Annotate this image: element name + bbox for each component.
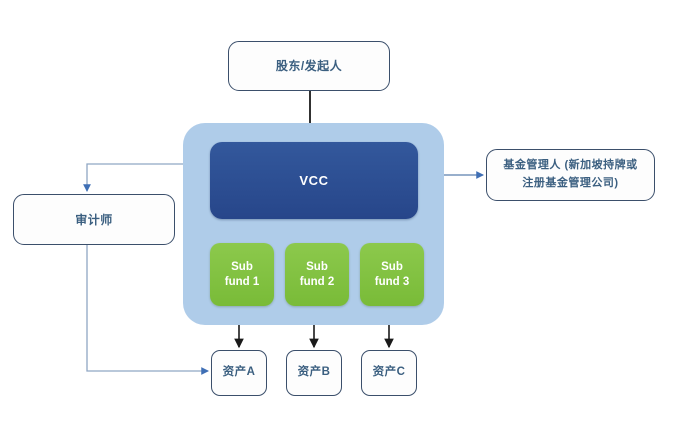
node-asset-b[interactable]: 资产B bbox=[286, 350, 342, 396]
node-shareholder-label: 股东/发起人 bbox=[276, 57, 342, 75]
node-sub-fund-3[interactable]: Sub fund 3 bbox=[360, 243, 424, 306]
node-asset-a-label: 资产A bbox=[223, 364, 256, 381]
node-vcc-label: VCC bbox=[299, 173, 328, 188]
diagram-canvas: 股东/发起人 VCC 审计师 基金管理人 (新加坡持牌或 注册基金管理公司) S… bbox=[0, 0, 688, 437]
node-fund-manager-label: 基金管理人 (新加坡持牌或 注册基金管理公司) bbox=[503, 157, 637, 192]
node-fund-manager[interactable]: 基金管理人 (新加坡持牌或 注册基金管理公司) bbox=[486, 149, 655, 201]
node-asset-b-label: 资产B bbox=[298, 364, 331, 381]
node-shareholder[interactable]: 股东/发起人 bbox=[228, 41, 390, 91]
node-sub-fund-1-label: Sub fund 1 bbox=[225, 260, 260, 289]
node-sub-fund-1[interactable]: Sub fund 1 bbox=[210, 243, 274, 306]
node-auditor-label: 审计师 bbox=[75, 211, 113, 229]
node-asset-c-label: 资产C bbox=[373, 364, 406, 381]
node-vcc[interactable]: VCC bbox=[210, 142, 418, 219]
node-sub-fund-3-label: Sub fund 3 bbox=[375, 260, 410, 289]
node-auditor[interactable]: 审计师 bbox=[13, 194, 175, 245]
node-asset-c[interactable]: 资产C bbox=[361, 350, 417, 396]
node-asset-a[interactable]: 资产A bbox=[211, 350, 267, 396]
node-sub-fund-2[interactable]: Sub fund 2 bbox=[285, 243, 349, 306]
node-sub-fund-2-label: Sub fund 2 bbox=[300, 260, 335, 289]
